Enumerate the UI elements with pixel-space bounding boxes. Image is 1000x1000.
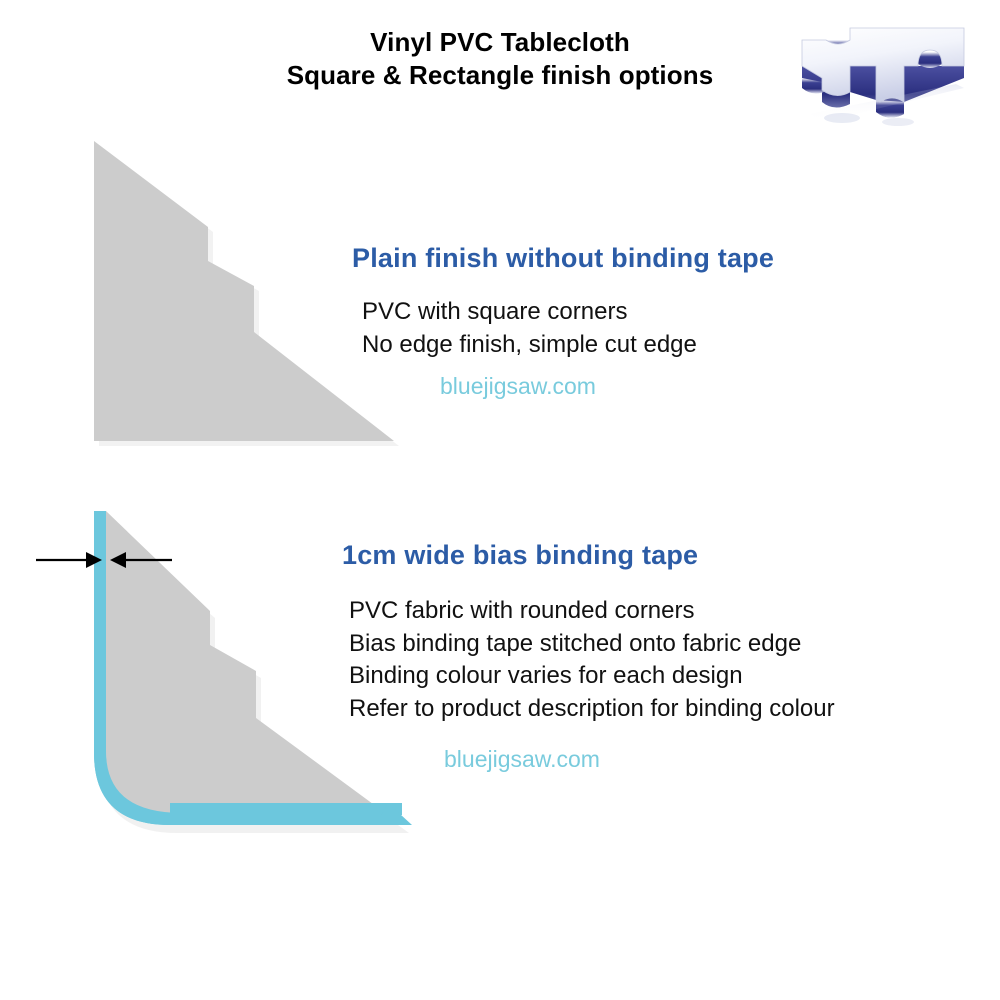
bias-binding-detail-list: PVC fabric with rounded corners Bias bin… bbox=[342, 595, 992, 726]
bias-binding-detail-1: PVC fabric with rounded corners bbox=[342, 595, 992, 628]
bias-binding-detail-3: Binding colour varies for each design bbox=[342, 660, 992, 693]
logo-knob-right-side bbox=[918, 52, 942, 68]
plain-finish-detail-list: PVC with square corners No edge finish, … bbox=[352, 296, 972, 361]
page-title-line-2: Square & Rectangle finish options bbox=[150, 59, 850, 92]
bias-binding-detail-2: Bias binding tape stitched onto fabric e… bbox=[342, 628, 992, 661]
tape-width-measure-arrows bbox=[24, 540, 184, 580]
bias-binding-site-link[interactable]: bluejigsaw.com bbox=[342, 746, 992, 773]
measure-arrow-left-head bbox=[86, 552, 102, 568]
plain-finish-detail-2: No edge finish, simple cut edge bbox=[352, 329, 972, 362]
page-title: Vinyl PVC Tablecloth Square & Rectangle … bbox=[150, 26, 850, 92]
page-title-line-1: Vinyl PVC Tablecloth bbox=[150, 26, 850, 59]
logo-shadow bbox=[824, 113, 860, 123]
measure-arrow-right-head bbox=[110, 552, 126, 568]
bias-binding-heading: 1cm wide bias binding tape bbox=[342, 540, 992, 571]
diagram-canvas: Vinyl PVC Tablecloth Square & Rectangle … bbox=[0, 0, 1000, 1000]
plain-finish-detail-1: PVC with square corners bbox=[352, 296, 972, 329]
plain-finish-site-link[interactable]: bluejigsaw.com bbox=[352, 373, 972, 400]
plain-finish-text-block: Plain finish without binding tape PVC wi… bbox=[352, 243, 972, 400]
plain-finish-heading: Plain finish without binding tape bbox=[352, 243, 972, 274]
binding-tape-bottom-leg bbox=[170, 803, 402, 815]
bias-binding-detail-4: Refer to product description for binding… bbox=[342, 693, 992, 726]
bluejigsaw-logo-icon bbox=[788, 22, 988, 130]
logo-shadow-2 bbox=[882, 118, 914, 126]
bias-binding-text-block: 1cm wide bias binding tape PVC fabric wi… bbox=[342, 540, 992, 773]
plain-fabric-shape bbox=[94, 141, 394, 441]
